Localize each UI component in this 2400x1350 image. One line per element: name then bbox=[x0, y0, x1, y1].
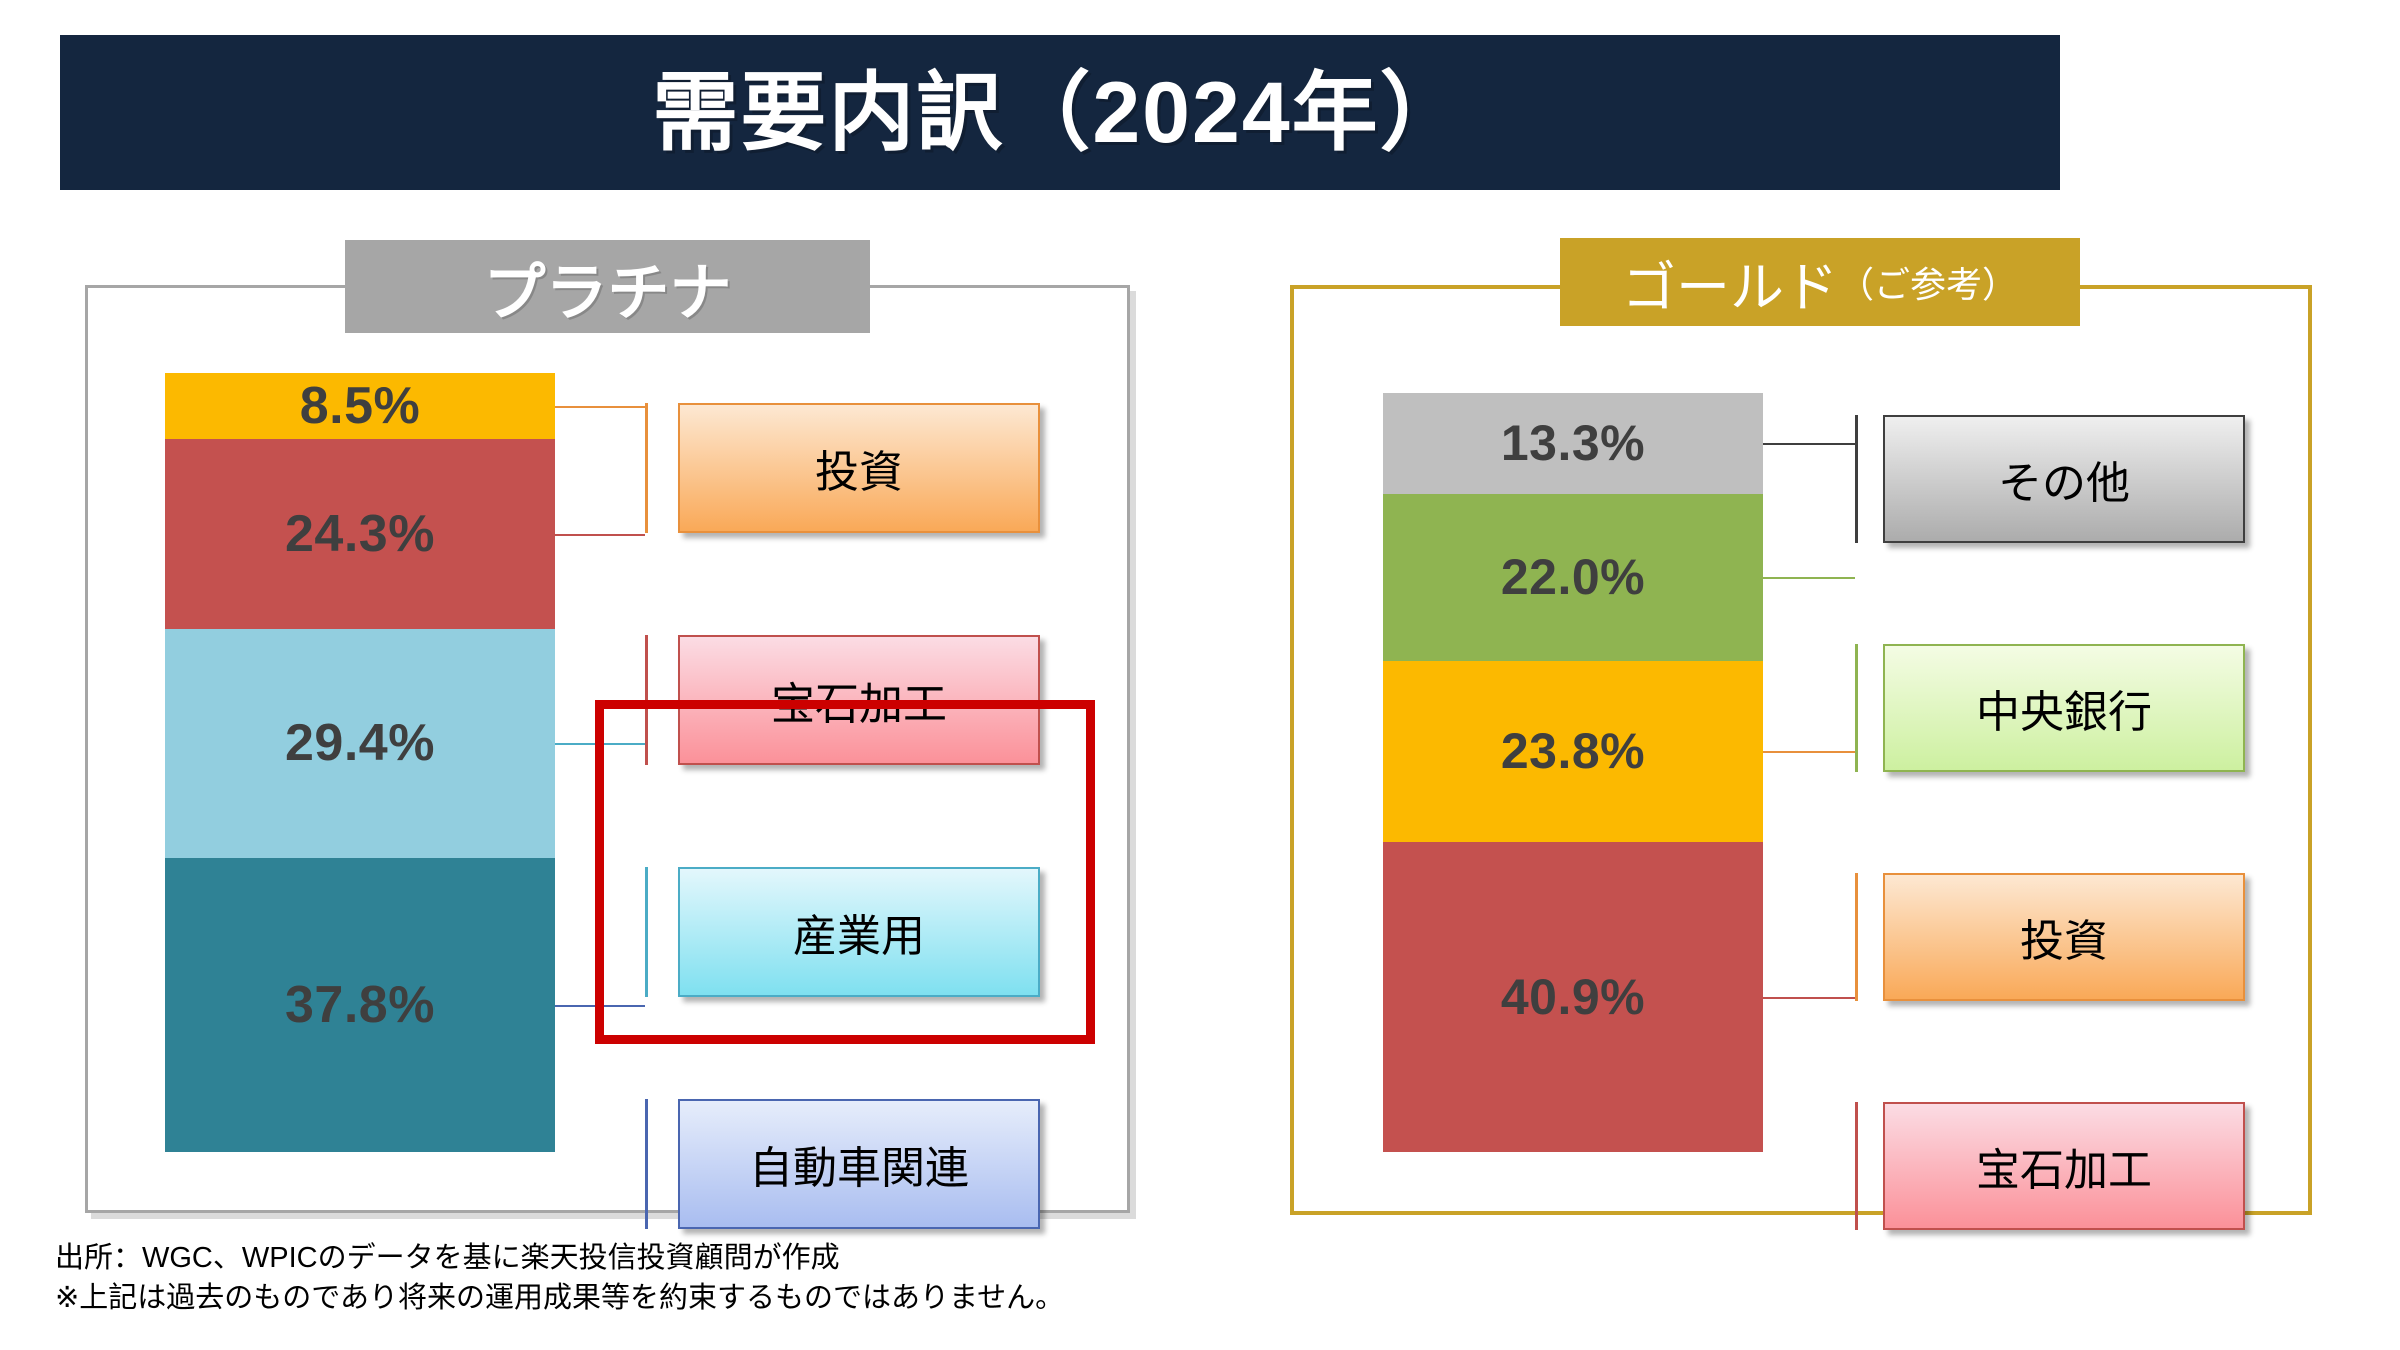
gold-segment-1: 22.0% bbox=[1383, 494, 1763, 661]
gold-segment-3: 40.9% bbox=[1383, 842, 1763, 1152]
gold-connector-v-1 bbox=[1855, 644, 1858, 772]
platinum-connector-h-0 bbox=[555, 406, 645, 408]
gold-connector-v-2 bbox=[1855, 873, 1858, 1001]
gold-segment-2: 23.8% bbox=[1383, 661, 1763, 842]
gold-legend-label-0: その他 bbox=[1998, 447, 2130, 511]
gold-segment-label-0: 13.3% bbox=[1501, 414, 1645, 472]
gold-segment-label-3: 40.9% bbox=[1501, 968, 1645, 1026]
platinum-legend-box-3[interactable]: 自動車関連 bbox=[678, 1099, 1040, 1229]
gold-connector-h-0 bbox=[1763, 443, 1855, 445]
platinum-segment-label-3: 37.8% bbox=[285, 975, 435, 1035]
panel-chip-platinum: プラチナ bbox=[345, 240, 870, 333]
gold-legend-box-0[interactable]: その他 bbox=[1883, 415, 2245, 543]
gold-segment-label-2: 23.8% bbox=[1501, 722, 1645, 780]
platinum-segment-label-2: 29.4% bbox=[285, 713, 435, 773]
slide-canvas: 需要内訳（2024年） プラチナ 8.5%24.3%29.4%37.8% 投資宝… bbox=[0, 0, 2400, 1350]
platinum-connector-v-3 bbox=[645, 1099, 648, 1229]
platinum-segment-1: 24.3% bbox=[165, 439, 555, 628]
footnote-source: 出所：WGC、WPICのデータを基に楽天投信投資顧問が作成 bbox=[55, 1238, 1064, 1278]
panel-chip-gold-sublabel: （ご参考） bbox=[1838, 256, 2018, 308]
platinum-legend-label-0: 投資 bbox=[815, 436, 903, 500]
panel-chip-gold: ゴールド（ご参考） bbox=[1560, 238, 2080, 326]
highlight-box-industrial-auto bbox=[595, 700, 1095, 1044]
platinum-segment-2: 29.4% bbox=[165, 629, 555, 858]
platinum-segment-0: 8.5% bbox=[165, 373, 555, 439]
page-title: 需要内訳（2024年） bbox=[652, 70, 1467, 156]
platinum-connector-v-0 bbox=[645, 403, 648, 533]
platinum-connector-h-1 bbox=[555, 534, 645, 536]
gold-connector-v-3 bbox=[1855, 1102, 1858, 1230]
panel-chip-platinum-label: プラチナ bbox=[483, 242, 731, 332]
platinum-segment-label-1: 24.3% bbox=[285, 504, 435, 564]
gold-connector-h-2 bbox=[1763, 751, 1855, 753]
gold-connector-h-1 bbox=[1763, 577, 1855, 579]
gold-legend-box-2[interactable]: 投資 bbox=[1883, 873, 2245, 1001]
gold-legend-label-2: 投資 bbox=[2020, 905, 2108, 969]
gold-legend-box-1[interactable]: 中央銀行 bbox=[1883, 644, 2245, 772]
panel-chip-gold-label: ゴールド bbox=[1622, 243, 1838, 322]
gold-legend-box-3[interactable]: 宝石加工 bbox=[1883, 1102, 2245, 1230]
footnote-disclaimer: ※上記は過去のものであり将来の運用成果等を約束するものではありません。 bbox=[55, 1278, 1064, 1318]
gold-legend-label-1: 中央銀行 bbox=[1976, 676, 2152, 740]
gold-segment-label-1: 22.0% bbox=[1501, 548, 1645, 606]
gold-connector-v-0 bbox=[1855, 415, 1858, 543]
platinum-legend-label-3: 自動車関連 bbox=[749, 1132, 969, 1196]
platinum-legend-box-0[interactable]: 投資 bbox=[678, 403, 1040, 533]
gold-legend-label-3: 宝石加工 bbox=[1976, 1134, 2152, 1198]
stacked-bar-platinum: 8.5%24.3%29.4%37.8% bbox=[165, 373, 555, 1152]
stacked-bar-gold: 13.3%22.0%23.8%40.9% bbox=[1383, 393, 1763, 1152]
footnotes: 出所：WGC、WPICのデータを基に楽天投信投資顧問が作成 ※上記は過去のもので… bbox=[55, 1238, 1064, 1318]
gold-segment-0: 13.3% bbox=[1383, 393, 1763, 494]
gold-connector-h-3 bbox=[1763, 997, 1855, 999]
title-banner: 需要内訳（2024年） bbox=[60, 35, 2060, 190]
platinum-segment-label-0: 8.5% bbox=[300, 376, 421, 436]
platinum-segment-3: 37.8% bbox=[165, 858, 555, 1152]
